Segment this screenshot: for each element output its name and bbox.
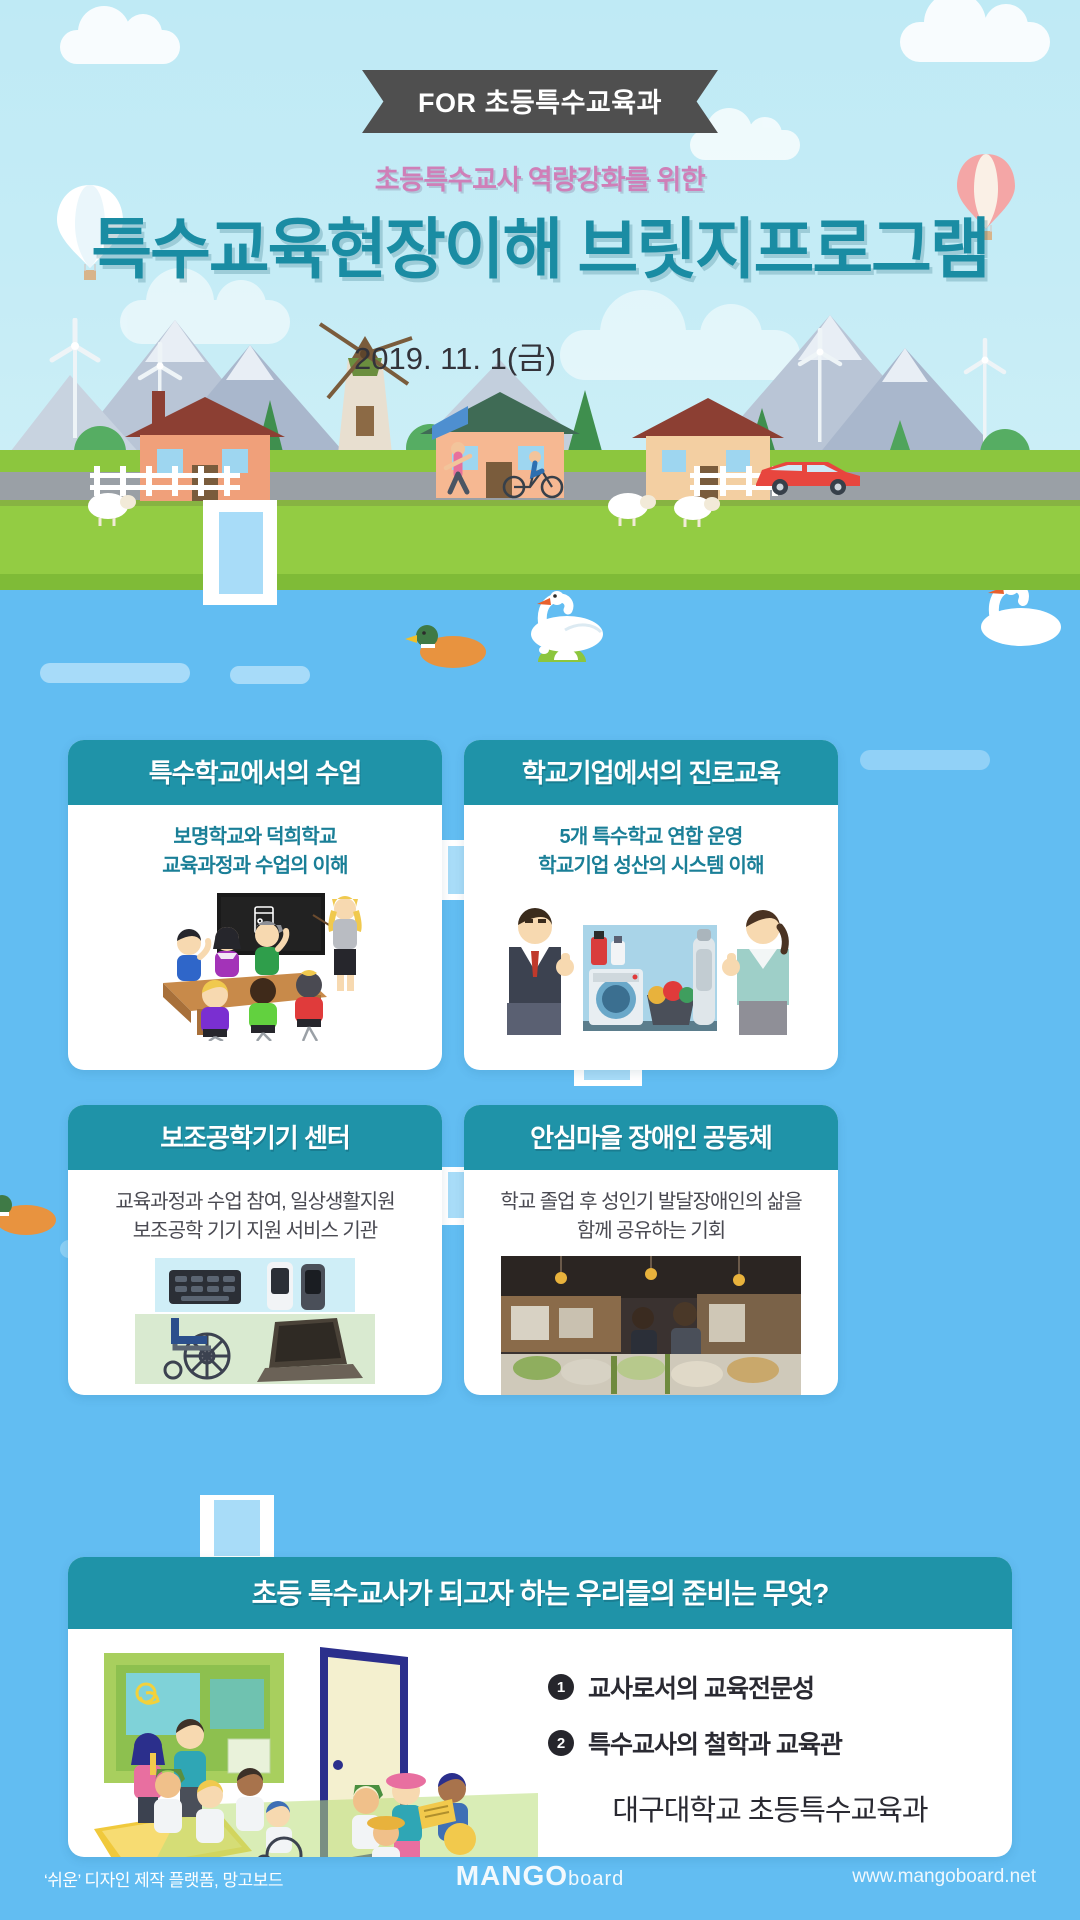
bottom-card-header: 초등 특수교사가 되고자 하는 우리들의 준비는 무엇? (68, 1557, 1012, 1629)
card-line-1: 5개 특수학교 연합 운영 (478, 823, 824, 852)
sheep-icon (665, 492, 723, 528)
card-line-1: 보명학교와 덕희학교 (82, 823, 428, 852)
water-ripple (230, 666, 310, 684)
community-market-photo (478, 1256, 824, 1395)
card-header: 학교기업에서의 진로교육 (464, 740, 838, 805)
cloud-icon (690, 130, 800, 160)
connector-inner-bottom (214, 1500, 260, 1556)
brand-sub: board (568, 1868, 624, 1890)
ribbon-banner: FOR 초등특수교육과 (362, 70, 718, 133)
list-item: 1 교사로서의 교육전문성 (548, 1669, 992, 1705)
card-header: 보조공학기기 센터 (68, 1105, 442, 1170)
card-school-enterprise-career[interactable]: 학교기업에서의 진로교육 5개 특수학교 연합 운영 학교기업 성산의 시스템 … (464, 740, 838, 1070)
water-ripple (40, 663, 190, 683)
list-number-badge: 2 (548, 1730, 574, 1756)
card-line-1: 학교 졸업 후 성인기 발달장애인의 삶을 (478, 1188, 824, 1217)
preparation-list: 1 교사로서의 교육전문성 2 특수교사의 철학과 교육관 대구대학교 초등특수… (548, 1643, 992, 1857)
list-item-label: 특수교사의 철학과 교육관 (588, 1725, 842, 1761)
classroom-students-teacher-illustration (82, 891, 428, 1046)
event-date: 2019. 11. 1(금) (0, 333, 1080, 378)
card-line-2: 교육과정과 수업의 이해 (82, 852, 428, 881)
poster-subtitle: 초등특수교사 역량강화를 위한 (0, 158, 1080, 197)
list-item-label: 교사로서의 교육전문성 (588, 1669, 814, 1705)
swan-icon (505, 578, 615, 658)
card-community-for-disabled[interactable]: 안심마을 장애인 공동체 학교 졸업 후 성인기 발달장애인의 삶을 함께 공유… (464, 1105, 838, 1395)
footer: ‘쉬운’ 디자인 제작 플랫폼, 망고보드 MANGOboard www.man… (0, 1840, 1080, 1920)
card-preparation-question[interactable]: 초등 특수교사가 되고자 하는 우리들의 준비는 무엇? (68, 1557, 1012, 1857)
bottom-card-body: 1 교사로서의 교육전문성 2 특수교사의 철학과 교육관 대구대학교 초등특수… (68, 1629, 1012, 1857)
duck-icon (405, 620, 495, 674)
connector-inner-top (219, 512, 263, 594)
sheep-icon (600, 490, 660, 526)
card-line-1: 교육과정과 수업 참여, 일상생활지원 (82, 1188, 428, 1217)
list-item: 2 특수교사의 철학과 교육관 (548, 1725, 992, 1761)
sheep-icon (80, 490, 140, 526)
list-number-badge: 1 (548, 1674, 574, 1700)
brand-main: MANGO (456, 1860, 568, 1891)
duck-icon (0, 1190, 62, 1240)
card-header: 안심마을 장애인 공동체 (464, 1105, 838, 1170)
grass-edge (0, 574, 1080, 590)
card-body: 교육과정과 수업 참여, 일상생활지원 보조공학 기기 지원 서비스 기관 (68, 1170, 442, 1395)
water-ripple (860, 750, 990, 770)
header-ribbon-container: FOR 초등특수교육과 (0, 70, 1080, 133)
card-line-2: 학교기업 성산의 시스템 이해 (478, 852, 824, 881)
cyclist-icon (500, 445, 570, 500)
poster-title: 특수교육현장이해 브릿지프로그램 (0, 196, 1080, 292)
card-line-2: 보조공학 기기 지원 서비스 기관 (82, 1217, 428, 1246)
school-enterprise-laundry-illustration (478, 891, 824, 1046)
children-classroom-door-illustration (88, 1643, 538, 1857)
runner-icon (440, 440, 476, 498)
cloud-icon (60, 30, 180, 64)
card-special-school-class[interactable]: 특수학교에서의 수업 보명학교와 덕희학교 교육과정과 수업의 이해 (68, 740, 442, 1070)
ribbon-label: 초등특수교육과 (485, 88, 662, 118)
card-assistive-tech-center[interactable]: 보조공학기기 센터 교육과정과 수업 참여, 일상생활지원 보조공학 기기 지원… (68, 1105, 442, 1395)
card-body: 5개 특수학교 연합 운영 학교기업 성산의 시스템 이해 (464, 805, 838, 1056)
card-body: 보명학교와 덕희학교 교육과정과 수업의 이해 (68, 805, 442, 1056)
university-department: 대구대학교 초등특수교육과 (548, 1787, 992, 1829)
card-header: 특수학교에서의 수업 (68, 740, 442, 805)
car-icon (750, 450, 870, 500)
assistive-technology-devices-photo (82, 1256, 428, 1391)
card-body: 학교 졸업 후 성인기 발달장애인의 삶을 함께 공유하는 기회 (464, 1170, 838, 1395)
cloud-icon (900, 22, 1050, 62)
card-line-2: 함께 공유하는 기회 (478, 1217, 824, 1246)
ribbon-prefix: FOR (418, 88, 477, 118)
footer-website-url[interactable]: www.mangoboard.net (852, 1866, 1036, 1888)
